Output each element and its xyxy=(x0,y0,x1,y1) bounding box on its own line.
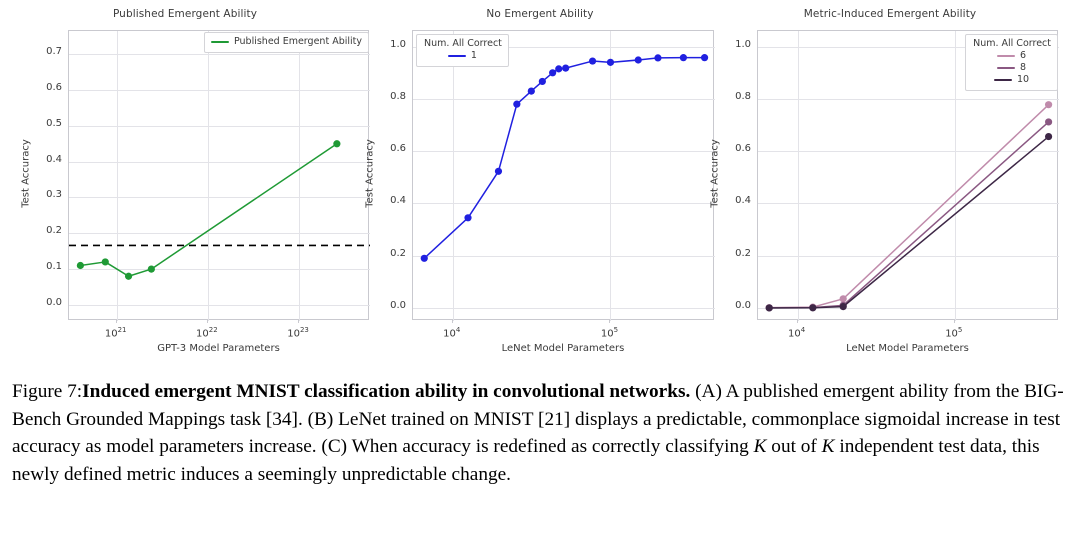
data-point-marker xyxy=(840,303,847,310)
caption-bold-title: Induced emergent MNIST classification ab… xyxy=(82,381,690,402)
data-point-marker xyxy=(539,78,546,85)
x-axis-tick-mark xyxy=(609,320,610,323)
panel-a-title: Published Emergent Ability xyxy=(0,8,370,20)
legend-color-swatch xyxy=(997,55,1015,57)
panel-c-x-axis-label: LeNet Model Parameters xyxy=(757,343,1058,354)
series-line xyxy=(769,105,1048,308)
panel-c-title: Metric-Induced Emergent Ability xyxy=(700,8,1080,20)
x-axis-tick-mark xyxy=(116,320,117,323)
figure-page: Published Emergent Ability Test Accuracy… xyxy=(0,0,1080,536)
legend-entry[interactable]: 1 xyxy=(448,50,477,62)
data-point-marker xyxy=(513,101,520,108)
x-axis-tick-label: 1023 xyxy=(273,326,323,339)
y-axis-tick-label: 0.6 xyxy=(723,143,751,154)
figure-caption: Figure 7:Induced emergent MNIST classifi… xyxy=(12,378,1068,488)
series-line xyxy=(80,144,336,276)
panel-published-emergent-ability: Published Emergent Ability Test Accuracy… xyxy=(0,0,370,366)
data-point-marker xyxy=(766,304,773,311)
data-point-marker xyxy=(840,295,847,302)
x-axis-tick-label: 105 xyxy=(584,326,634,339)
data-point-marker xyxy=(125,273,132,280)
series-line xyxy=(769,137,1048,308)
y-axis-tick-label: 0.3 xyxy=(34,189,62,200)
caption-symbol-k-first: K xyxy=(754,436,767,457)
panel-a-y-axis-label: Test Accuracy xyxy=(21,29,32,319)
legend-entry-label: 6 xyxy=(1020,50,1026,62)
y-axis-tick-label: 1.0 xyxy=(378,39,406,50)
x-axis-tick-label: 104 xyxy=(772,326,822,339)
series-line xyxy=(424,58,704,259)
x-axis-tick-mark xyxy=(298,320,299,323)
data-point-marker xyxy=(562,65,569,72)
y-axis-tick-label: 0.4 xyxy=(378,195,406,206)
y-axis-tick-label: 0.7 xyxy=(34,46,62,57)
data-point-marker xyxy=(421,255,428,262)
data-point-marker xyxy=(654,54,661,61)
legend-entry[interactable]: 8 xyxy=(997,62,1026,74)
data-point-marker xyxy=(809,304,816,311)
panel-a-x-axis-label: GPT-3 Model Parameters xyxy=(68,343,369,354)
y-axis-tick-label: 0.0 xyxy=(723,300,751,311)
y-axis-tick-label: 0.8 xyxy=(378,91,406,102)
data-point-marker xyxy=(635,56,642,63)
y-axis-tick-label: 1.0 xyxy=(723,39,751,50)
legend-title: Num. All Correct xyxy=(973,38,1051,49)
panel-a-plot-area xyxy=(68,30,369,320)
legend-entry-label: Published Emergent Ability xyxy=(234,36,362,48)
y-axis-tick-label: 0.2 xyxy=(378,248,406,259)
data-point-marker xyxy=(495,168,502,175)
data-point-marker xyxy=(1045,101,1052,108)
data-point-marker xyxy=(1045,118,1052,125)
y-axis-tick-label: 0.1 xyxy=(34,261,62,272)
panel-b-title: No Emergent Ability xyxy=(355,8,725,20)
panel-b-legend: Num. All Correct1 xyxy=(416,34,509,67)
data-point-marker xyxy=(77,262,84,269)
caption-symbol-k-second: K xyxy=(822,436,835,457)
legend-color-swatch xyxy=(448,55,466,57)
data-point-marker xyxy=(333,140,340,147)
data-point-marker xyxy=(464,214,471,221)
x-axis-tick-mark xyxy=(207,320,208,323)
legend-entry[interactable]: 6 xyxy=(997,50,1026,62)
data-point-marker xyxy=(102,258,109,265)
panel-b-y-axis-label: Test Accuracy xyxy=(365,29,376,319)
y-axis-tick-label: 0.5 xyxy=(34,118,62,129)
y-axis-tick-label: 0.6 xyxy=(34,82,62,93)
y-axis-tick-label: 0.0 xyxy=(34,297,62,308)
data-point-marker xyxy=(1045,133,1052,140)
x-axis-tick-label: 104 xyxy=(427,326,477,339)
x-axis-tick-label: 105 xyxy=(929,326,979,339)
legend-entry[interactable]: 10 xyxy=(994,74,1029,86)
legend-entry[interactable]: Published Emergent Ability xyxy=(211,36,362,48)
legend-entry-label: 8 xyxy=(1020,62,1026,74)
y-axis-tick-label: 0.4 xyxy=(34,154,62,165)
data-point-marker xyxy=(528,87,535,94)
panel-c-legend: Num. All Correct6810 xyxy=(965,34,1058,91)
caption-body-part-2: out of xyxy=(766,436,821,457)
x-axis-tick-mark xyxy=(954,320,955,323)
series-layer xyxy=(69,31,370,321)
y-axis-tick-label: 0.2 xyxy=(723,248,751,259)
legend-color-swatch xyxy=(997,67,1015,69)
legend-entries: 1 xyxy=(423,50,502,62)
data-point-marker xyxy=(555,65,562,72)
x-axis-tick-label: 1021 xyxy=(91,326,141,339)
y-axis-tick-label: 0.6 xyxy=(378,143,406,154)
legend-color-swatch xyxy=(994,79,1012,81)
series-layer xyxy=(413,31,715,321)
legend-title: Num. All Correct xyxy=(424,38,502,49)
legend-entry-label: 1 xyxy=(471,50,477,62)
data-point-marker xyxy=(607,59,614,66)
data-point-marker xyxy=(549,69,556,76)
data-point-marker xyxy=(148,265,155,272)
figure-plots: Published Emergent Ability Test Accuracy… xyxy=(0,0,1080,366)
panel-a-legend: Published Emergent Ability xyxy=(204,32,369,53)
y-axis-tick-label: 0.0 xyxy=(378,300,406,311)
caption-figure-number: Figure 7: xyxy=(12,381,82,402)
panel-c-y-axis-label: Test Accuracy xyxy=(710,29,721,319)
data-point-marker xyxy=(680,54,687,61)
series-line xyxy=(769,122,1048,308)
legend-entries: Published Emergent Ability xyxy=(211,36,362,48)
legend-entries: 6810 xyxy=(972,50,1051,86)
y-axis-tick-label: 0.2 xyxy=(34,225,62,236)
legend-color-swatch xyxy=(211,41,229,43)
panel-b-plot-area xyxy=(412,30,714,320)
y-axis-tick-label: 0.8 xyxy=(723,91,751,102)
panel-metric-induced-emergent-ability: Metric-Induced Emergent Ability Test Acc… xyxy=(700,0,1080,366)
data-point-marker xyxy=(589,57,596,64)
y-axis-tick-label: 0.4 xyxy=(723,195,751,206)
panel-b-x-axis-label: LeNet Model Parameters xyxy=(412,343,714,354)
x-axis-tick-mark xyxy=(452,320,453,323)
panel-no-emergent-ability: No Emergent Ability Test Accuracy LeNet … xyxy=(355,0,725,366)
x-axis-tick-mark xyxy=(797,320,798,323)
legend-entry-label: 10 xyxy=(1017,74,1029,86)
x-axis-tick-label: 1022 xyxy=(182,326,232,339)
